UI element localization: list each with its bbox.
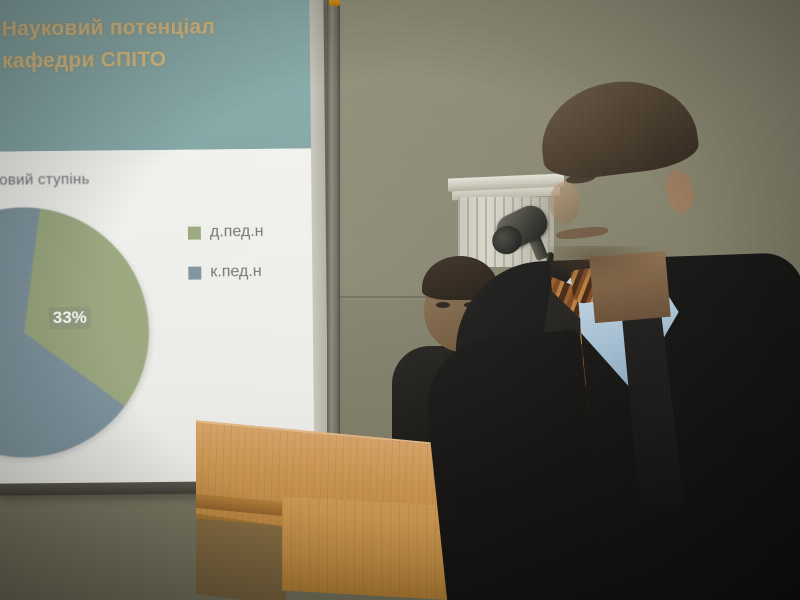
conference-photo-scene: Науковий потенціал кафедри СПІТО наукови…: [0, 0, 800, 600]
slide-header-band: Науковий потенціал кафедри СПІТО: [0, 0, 324, 152]
pie-slice-label-33: 33%: [49, 307, 91, 329]
chart-legend: д.пед.н к.пед.н: [188, 223, 264, 304]
legend-swatch-dpedn: [188, 226, 201, 239]
speaker-chin-shadow: [550, 246, 660, 286]
podium-left-side: [196, 514, 286, 600]
legend-swatch-kpedn: [188, 266, 201, 279]
legend-label-kpedn: к.пед.н: [210, 263, 261, 282]
legend-item-dpedn: д.пед.н: [188, 223, 264, 242]
speaker-at-podium: [430, 78, 800, 600]
pie-slices: [0, 206, 150, 459]
pie-chart: 33%: [0, 206, 150, 459]
legend-label-dpedn: д.пед.н: [210, 223, 264, 242]
presentation-slide: Науковий потенціал кафедри СПІТО наукови…: [0, 0, 328, 492]
screen-roller-cap: [329, 0, 340, 6]
slide-title: Науковий потенціал кафедри СПІТО: [2, 10, 303, 77]
projection-screen: Науковий потенціал кафедри СПІТО наукови…: [0, 0, 328, 492]
screen-roller-pole: [327, 0, 340, 501]
chart-subtitle: науковий ступінь: [0, 171, 90, 189]
legend-item-kpedn: к.пед.н: [188, 263, 264, 282]
